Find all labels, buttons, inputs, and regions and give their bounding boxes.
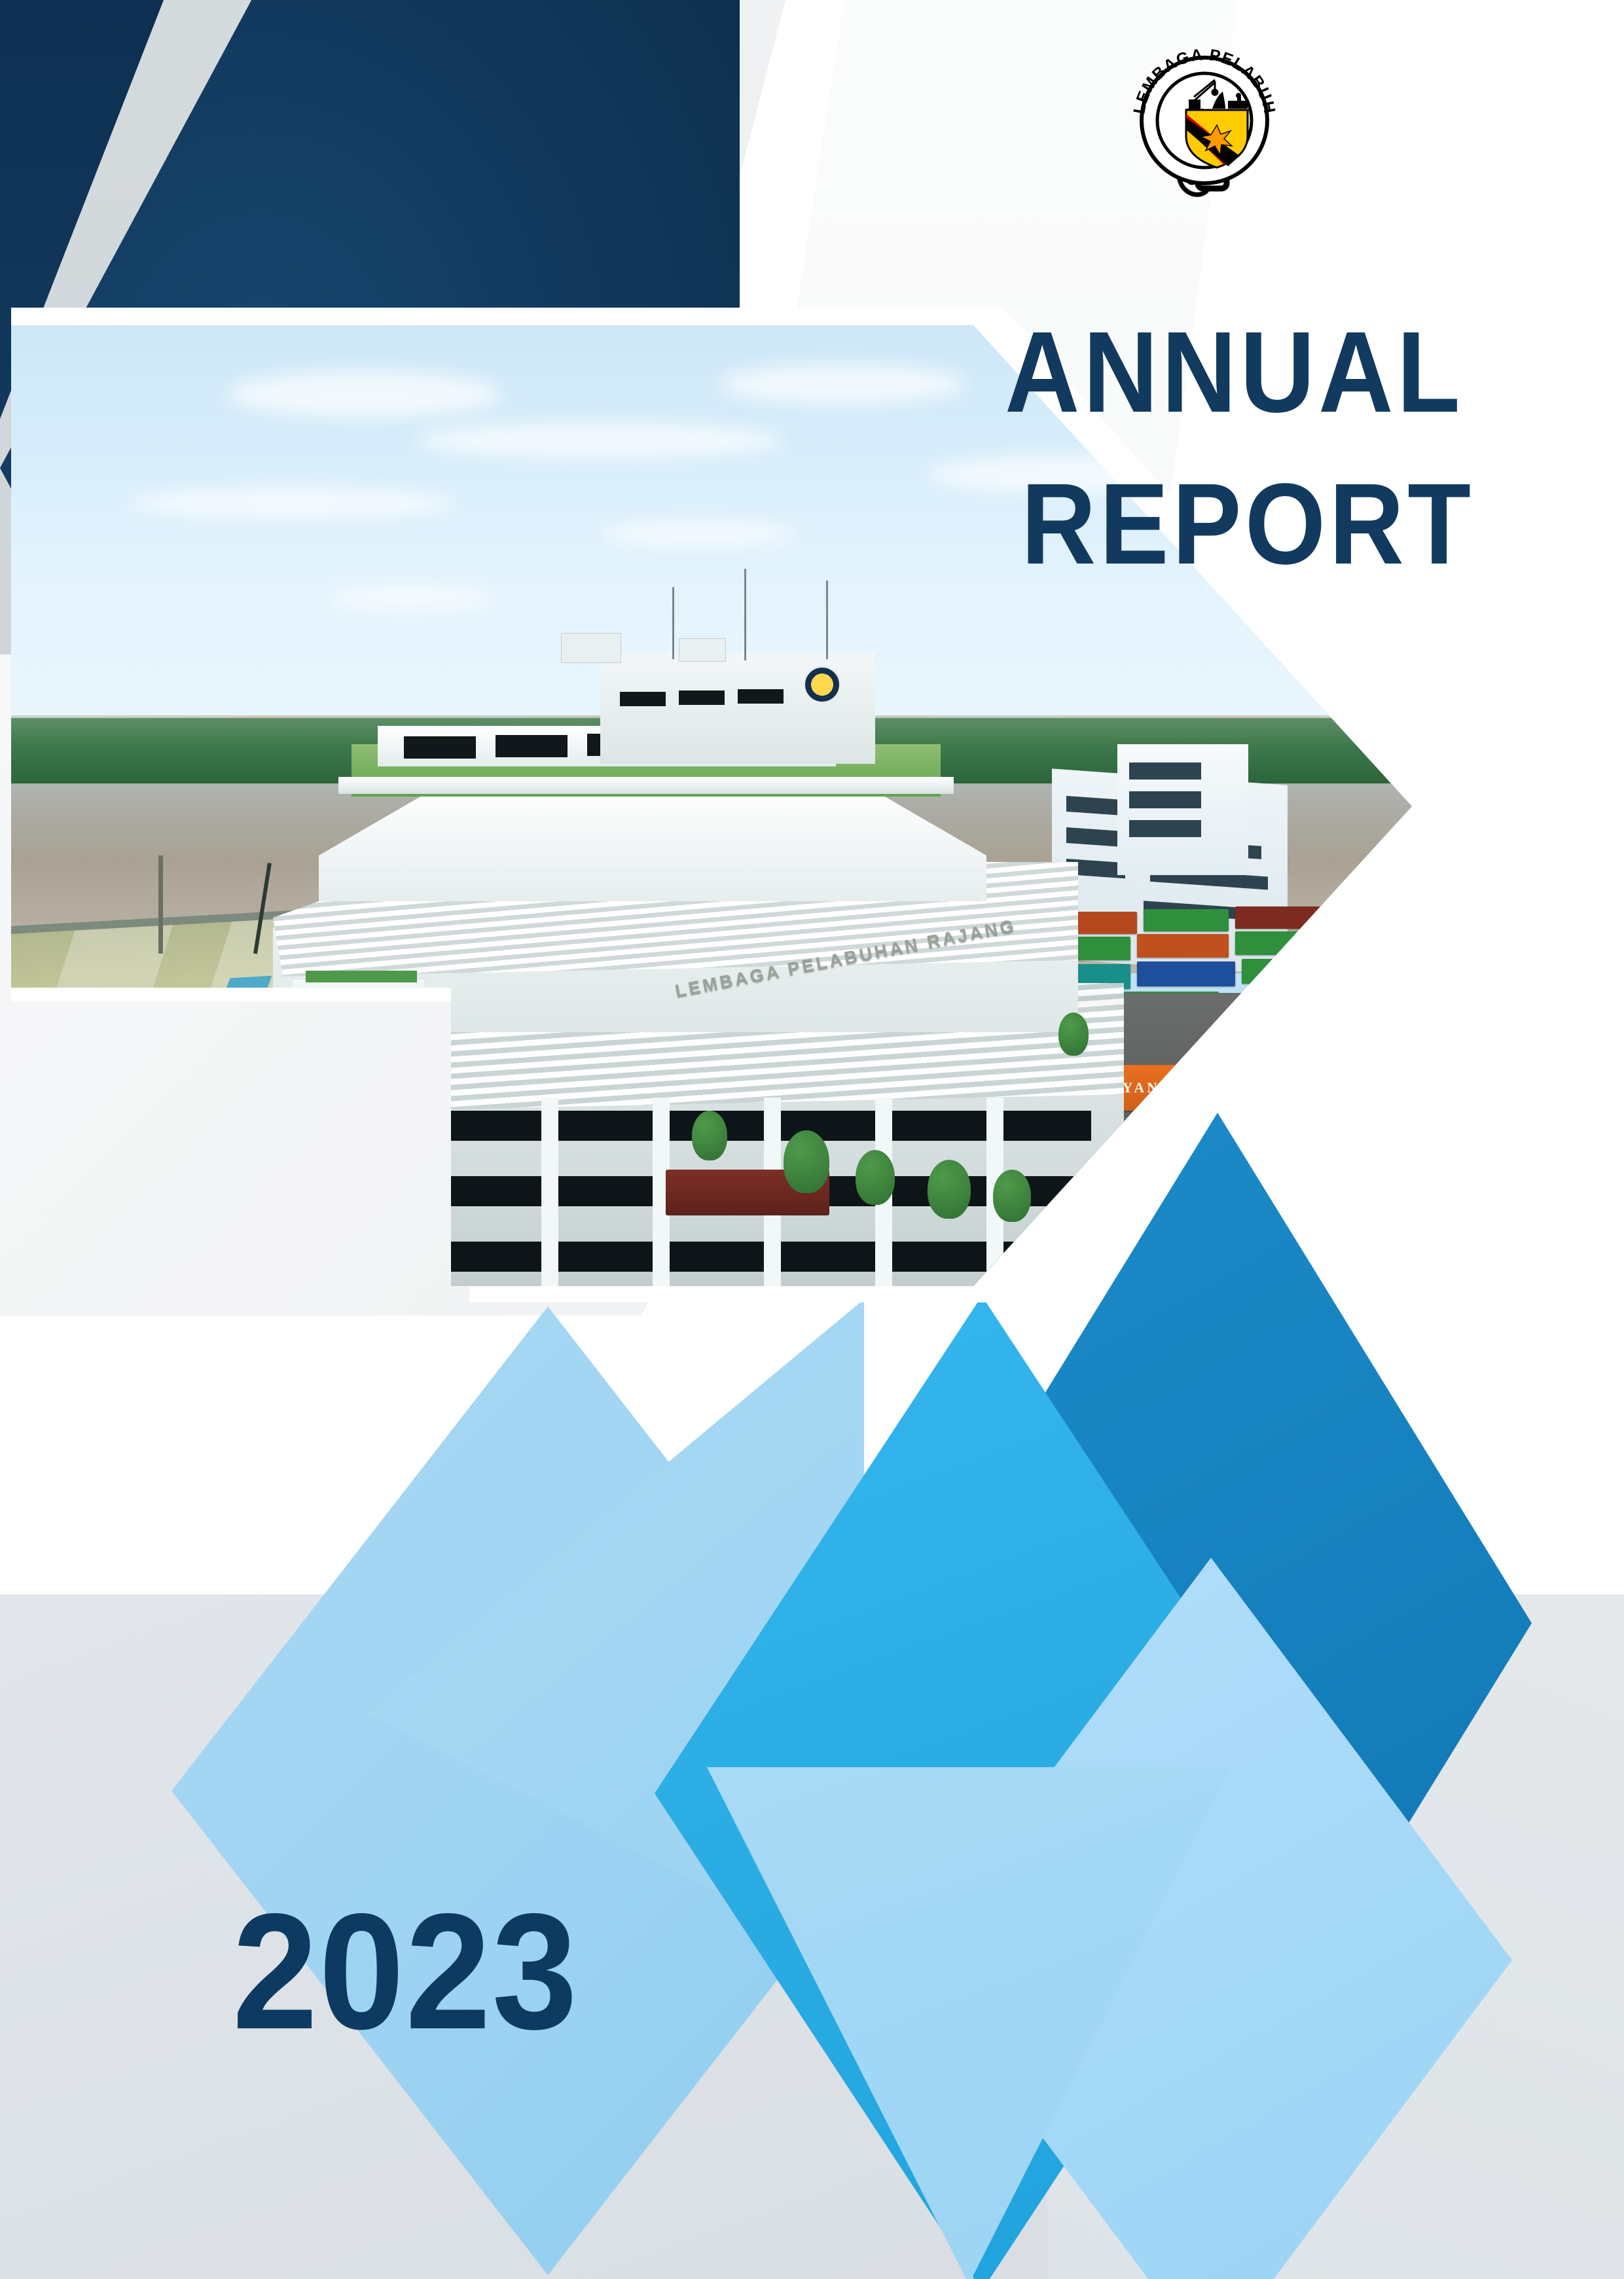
lembaga-pelabuhan-rajang-logo-icon: LEMBAGA PELABUHAN RAJANG: [1126, 41, 1283, 211]
photo-office-tower: [1117, 744, 1248, 875]
building-deck-parapet: [338, 777, 954, 794]
building-crest-medallion: [803, 666, 841, 704]
page-title-line-2: REPORT: [1021, 470, 1474, 579]
report-year: 2023: [232, 1877, 579, 2066]
page-title-line-1: ANNUAL: [1005, 318, 1464, 427]
report-cover-page: SIN YANG: [0, 0, 1624, 2279]
building-podium: [319, 783, 986, 901]
organisation-logo: LEMBAGA PELABUHAN RAJANG: [1126, 41, 1283, 211]
